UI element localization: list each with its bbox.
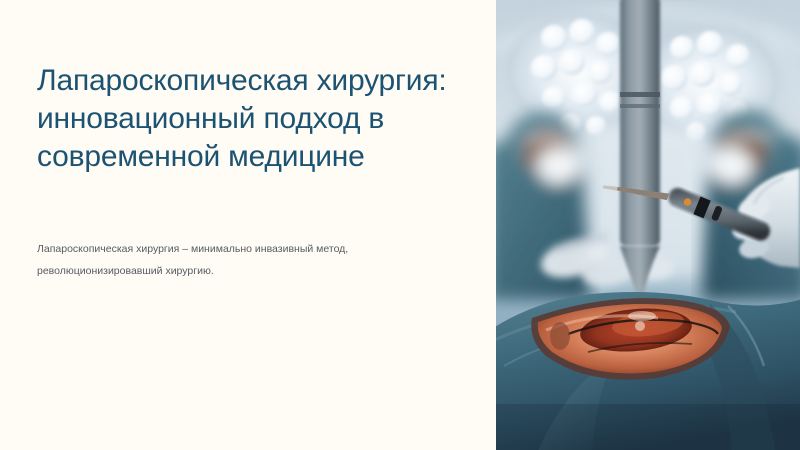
text-panel: Лапароскопическая хирургия: инновационны… (0, 0, 496, 450)
slide-title: Лапароскопическая хирургия: инновационны… (37, 62, 447, 176)
surgery-photo-illustration (496, 0, 800, 450)
presentation-slide: Лапароскопическая хирургия: инновационны… (0, 0, 800, 450)
slide-subtitle: Лапароскопическая хирургия – минимально … (37, 238, 457, 282)
surgery-photo (496, 0, 800, 450)
